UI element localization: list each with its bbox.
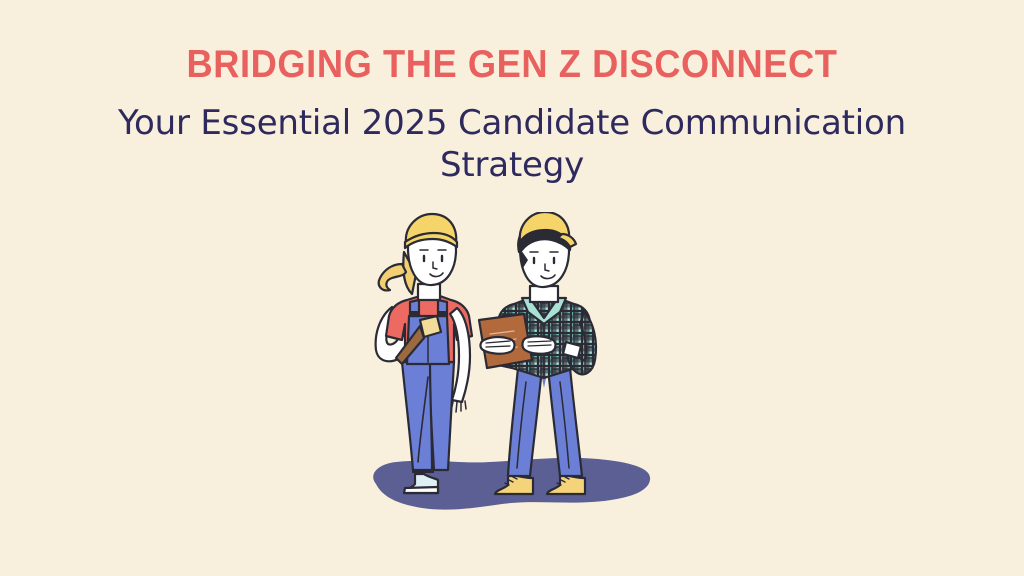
heading-block: BRIDGING THE GEN Z DISCONNECT Your Essen… [0, 44, 1024, 186]
female-worker [376, 214, 472, 493]
male-right-cuff [563, 342, 581, 358]
workers-illustration-svg [362, 212, 662, 532]
female-ponytail [379, 264, 406, 290]
female-strap-buckle-left [411, 311, 419, 315]
female-strap-buckle-right [439, 311, 447, 315]
male-neck [530, 286, 558, 302]
page-title: BRIDGING THE GEN Z DISCONNECT [36, 44, 988, 86]
female-neck [418, 284, 440, 300]
female-left-hand-fingers [451, 401, 466, 412]
page-subtitle: Your Essential 2025 Candidate Communicat… [97, 102, 927, 186]
female-left-shoe-sole [404, 487, 438, 493]
slide-canvas: BRIDGING THE GEN Z DISCONNECT Your Essen… [0, 0, 1024, 576]
male-left-hand [480, 337, 514, 354]
male-worker [479, 212, 598, 494]
two-construction-workers-illustration [362, 212, 662, 532]
